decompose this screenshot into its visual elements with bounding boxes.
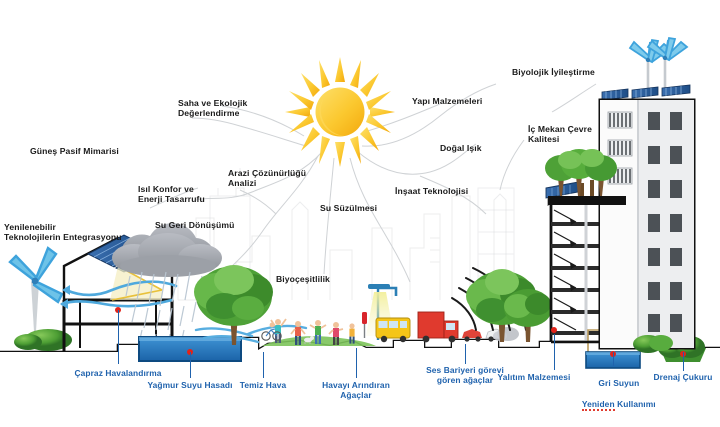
leader-gri-suyun-yeniden-kullanimi <box>613 352 614 366</box>
label-isil-konfor-ve-enerji-tasarrufu: Isıl Konfor ve Enerji Tasarrufu <box>138 184 205 205</box>
label-arazi-cozunurlugu-analizi: Arazi Çözünürlüğü Analizi <box>228 168 306 189</box>
leader-temiz-hava <box>263 352 264 378</box>
label-havayi-arindiran-agaclar: Havayı Arındıran Ağaçlar <box>306 380 406 401</box>
infographic-canvas: Güneş Pasif Mimarisi Saha ve Ekolojik De… <box>0 0 720 427</box>
label-dogal-isik: Doğal Işık <box>440 143 482 153</box>
label-insaat-teknolojisi: İnşaat Teknolojisi <box>395 186 468 196</box>
label-temiz-hava: Temiz Hava <box>223 380 303 390</box>
label-saha-ve-ekolojik-degerlendirme: Saha ve Ekolojik Değerlendirme <box>178 98 247 119</box>
roof-wind-turbines <box>630 38 687 90</box>
label-ic-mekan-cevre-kalitesi: İç Mekan Çevre Kalitesi <box>528 124 592 145</box>
label-capraz-havalandirma: Çapraz Havalandırma <box>38 368 198 378</box>
label-yapi-malzemeleri: Yapı Malzemeleri <box>412 96 482 106</box>
label-su-suzulmesi: Su Süzülmesi <box>320 203 377 213</box>
leader-ses-bariyeri-agaclar <box>465 344 466 364</box>
label-yenilenebilir-teknolojilerin-entegrasyonu: Yenilenebilir Teknolojilerin Entegrasyon… <box>4 222 122 243</box>
label-su-geri-donusumu: Su Geri Dönüşümü <box>155 220 234 230</box>
truck <box>418 312 458 342</box>
rain-cloud <box>112 223 222 277</box>
tall-tower <box>600 38 694 348</box>
bus <box>376 318 410 342</box>
label-biyolojik-iyilestirme: Biyolojik İyileştirme <box>512 67 595 77</box>
tower-roof-solar-panels <box>602 85 690 100</box>
scene-artwork <box>0 0 720 427</box>
sun-graphic <box>285 57 395 167</box>
leader-yagmur-suyu-hasadi <box>190 352 191 378</box>
label-drenaj-cukuru: Drenaj Çukuru <box>640 372 720 382</box>
tree-large-left <box>194 265 273 345</box>
gri-suyun-line1: Gri Suyun <box>598 378 639 388</box>
gri-suyun-spellcheck-word: Yeniden <box>582 399 615 411</box>
leader-yalitim-malzemesi <box>554 334 555 370</box>
gri-suyun-line2-rest: Kullanımı <box>615 399 656 409</box>
leader-capraz-havalandirma <box>118 310 119 364</box>
leader-havayi-arindiran-agaclar <box>356 348 357 378</box>
traffic-signal <box>362 312 367 338</box>
label-gunes-pasif-mimarisi: Güneş Pasif Mimarisi <box>30 146 119 156</box>
leader-drenaj-cukuru <box>683 352 684 371</box>
hotspot-dot <box>551 327 557 333</box>
park-scene <box>262 319 376 346</box>
label-biyocesitlilik: Biyoçeşitlilik <box>276 274 330 284</box>
